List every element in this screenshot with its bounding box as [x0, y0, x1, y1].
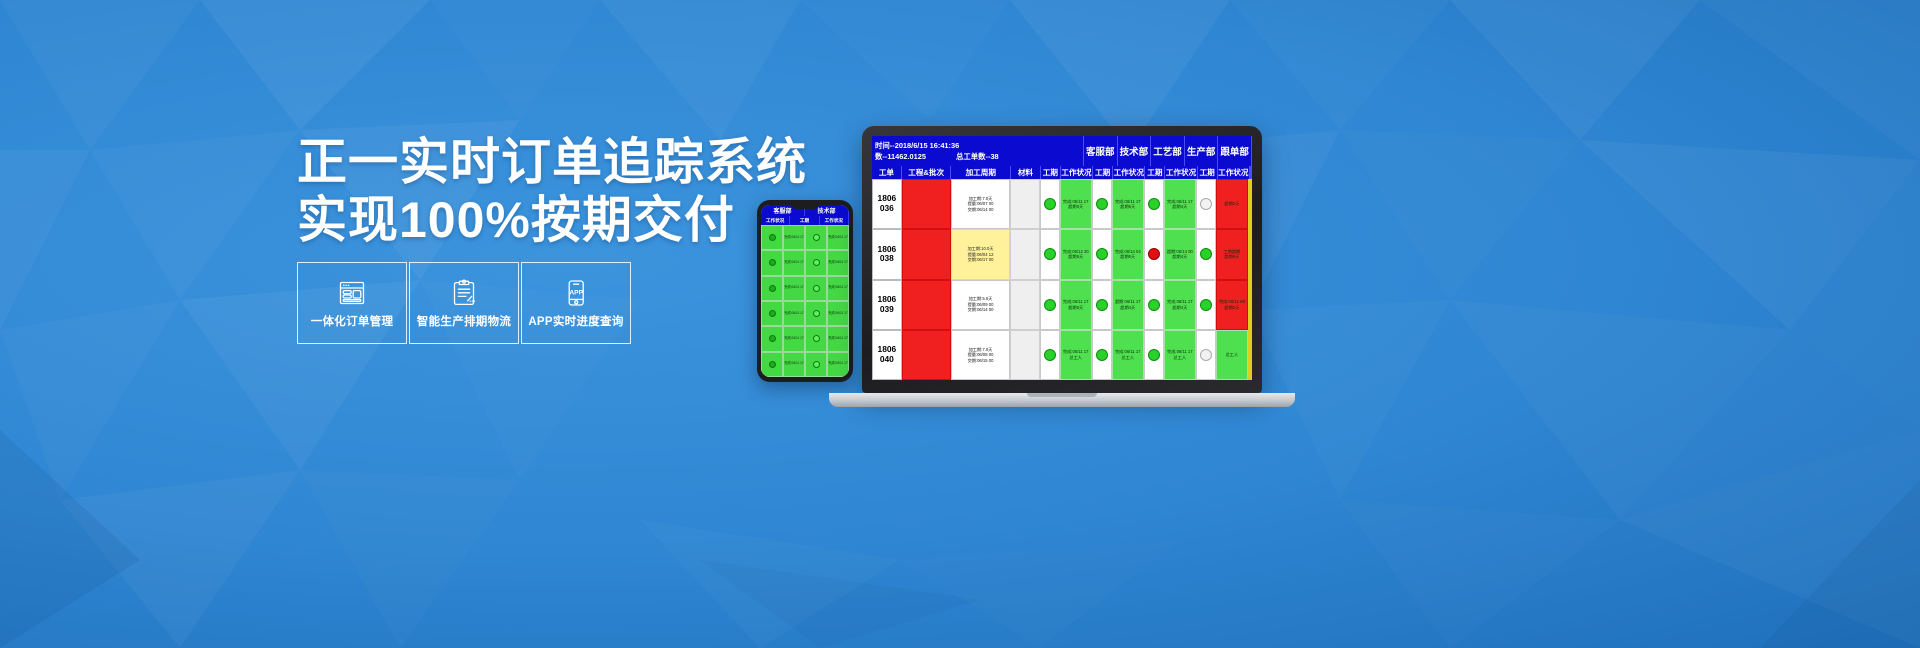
cell-gendan-status[interactable] [1250, 330, 1252, 380]
col-header-project: 工程&批次 [902, 166, 952, 179]
phone-subheader: 工作状况 工期 工作状况 [761, 216, 849, 225]
phone-screen: 客服部 技术部 工作状况 工期 工作状况 完成:06/11 17 [761, 205, 849, 377]
col-header-gongyi-term: 工期 [1145, 166, 1165, 179]
status-dot-icon [1200, 248, 1212, 260]
laptop-lid: 时间--2018/6/15 16:41:36 数--11462.0125总工单数… [862, 126, 1262, 393]
cell-gongyi-status[interactable]: 完成:06/11 17 超期4天 [1164, 179, 1196, 229]
status-dot-icon [769, 335, 776, 342]
col-header-gendan-status: 工作状况 [1251, 166, 1252, 179]
feature-label-app-tracking: APP实时进度查询 [528, 313, 623, 329]
phone-cell[interactable]: 完成:06/11 17 [827, 326, 849, 351]
phone-cell[interactable]: 完成:06/11 17 [783, 352, 805, 377]
cell-kefu-status[interactable]: 完成:06/11 17 超期8天 [1060, 280, 1092, 330]
laptop-screen: 时间--2018/6/15 16:41:36 数--11462.0125总工单数… [872, 136, 1252, 380]
phone-column-status-1 [761, 225, 783, 377]
cell-gendan-status[interactable] [1250, 229, 1252, 279]
cell-kefu-status[interactable]: 完成:06/12 20 超期8天 [1060, 229, 1092, 279]
cell-order[interactable]: 1806 039 [872, 280, 902, 330]
feature-label-order-management: 一体化订单管理 [311, 313, 394, 329]
cell-jishu-status[interactable]: 超期:06/11 17 超期4天 [1112, 280, 1144, 330]
dashboard-column-header: 工单 工程&批次 加工周期 材料 工期 工作状况 工期 工作状况 工期 工作状况… [872, 166, 1252, 179]
cycle-line-3: 交期:06/15 00 [968, 358, 994, 363]
laptop-mockup: 时间--2018/6/15 16:41:36 数--11462.0125总工单数… [862, 126, 1295, 407]
dept-header-kefu: 客服部 [1084, 136, 1118, 166]
status-dot-icon [769, 285, 776, 292]
cycle-line-3: 交期:06/14 00 [968, 207, 994, 212]
table-row[interactable]: 1806 036 加工期:7.0天 提量:06/07 00 交期:06/14 0… [872, 179, 1252, 229]
status-dot-icon [1200, 299, 1212, 311]
status-dot-icon [1148, 299, 1160, 311]
cell-shengchan-status[interactable]: 超期2天 [1216, 179, 1248, 229]
cell-kefu-status[interactable]: 完成:06/11 17 总工人 [1060, 330, 1092, 380]
status-dot-icon [813, 259, 820, 266]
cell-cycle[interactable]: 加工期:10.0天 提量:06/04 12 交期:06/17 00 [951, 229, 1010, 279]
cycle-line-3: 交期:06/17 00 [968, 257, 994, 262]
term-text: 超期4天 [1172, 204, 1187, 209]
cell-shengchan-indicator[interactable] [1196, 280, 1216, 330]
status-dot-icon [1148, 349, 1160, 361]
status-dot-icon [1096, 248, 1108, 260]
phone-cell[interactable]: 完成:06/11 17 [827, 352, 849, 377]
status-dot-icon [1148, 248, 1160, 260]
status-dot-icon [1044, 299, 1056, 311]
mobile-app-icon: APP [561, 279, 591, 307]
cycle-line-3: 交期:06/14 00 [968, 307, 994, 312]
cell-jishu-indicator[interactable] [1092, 179, 1112, 229]
status-dot-icon [813, 285, 820, 292]
phone-cell[interactable]: 完成:06/11 17 [783, 225, 805, 250]
feature-item-production-schedule[interactable]: 智能生产排期物流 [409, 262, 519, 344]
dept-header-gongyi: 工艺部 [1151, 136, 1185, 166]
term-text: 超期6天 [1224, 254, 1239, 259]
status-dot-icon [813, 310, 820, 317]
cell-kefu-indicator[interactable] [1040, 330, 1060, 380]
dashboard-header-info: 时间--2018/6/15 16:41:36 数--11462.0125总工单数… [872, 136, 1084, 166]
term-text: 超期8天 [1068, 305, 1083, 310]
status-dot-icon [769, 234, 776, 241]
phone-cell[interactable] [805, 301, 827, 326]
cell-jishu-indicator[interactable] [1092, 229, 1112, 279]
col-header-gongyi-status: 工作状况 [1165, 166, 1197, 179]
term-text: 超期8天 [1068, 254, 1083, 259]
cell-material[interactable] [1010, 179, 1040, 229]
col-header-jishu-term: 工期 [1093, 166, 1113, 179]
col-header-shengchan-term: 工期 [1198, 166, 1218, 179]
term-text: 超期6天 [1120, 254, 1135, 259]
status-dot-icon [769, 310, 776, 317]
phone-cell[interactable] [805, 352, 827, 377]
status-dot-icon [1200, 198, 1212, 210]
cell-shengchan-status[interactable]: 完成:06/12 09 超期2天 [1216, 280, 1248, 330]
dashboard-window-icon [337, 279, 367, 307]
status-dot-icon [813, 335, 820, 342]
cell-jishu-indicator[interactable] [1092, 330, 1112, 380]
status-dot-icon [1200, 349, 1212, 361]
col-header-material: 材料 [1011, 166, 1041, 179]
status-dot-icon [769, 259, 776, 266]
term-text: 超期6天 [1120, 204, 1135, 209]
phone-cell[interactable] [761, 276, 783, 301]
phone-cell[interactable]: 完成:06/11 17 [827, 301, 849, 326]
col-header-order: 工单 [872, 166, 902, 179]
term-text: 超期2天 [1224, 201, 1239, 206]
phone-cell[interactable] [805, 326, 827, 351]
dashboard-counts: 数--11462.0125总工单数--38 [875, 151, 1080, 162]
feature-item-app-tracking[interactable]: APP APP实时进度查询 [521, 262, 631, 344]
feature-list: 一体化订单管理 智能生产排期物流 [297, 262, 631, 344]
cell-shengchan-status[interactable]: 工期超期 超期6天 [1216, 229, 1248, 279]
term-text: 超期4天 [1172, 254, 1187, 259]
cell-gongyi-indicator[interactable] [1144, 179, 1164, 229]
phone-column-term-2: 完成:06/11 17 完成:06/11 17 完成:06/11 17 完成:0… [827, 225, 849, 377]
col-header-jishu-status: 工作状况 [1113, 166, 1145, 179]
table-row[interactable]: 1806 038 加工期:10.0天 提量:06/04 12 交期:06/17 … [872, 229, 1252, 279]
dept-header-gendan: 跟单部 [1218, 136, 1252, 166]
cell-gongyi-status[interactable]: 完成:06/11 17 总工人 [1164, 330, 1196, 380]
promo-banner: 正一实时订单追踪系统 实现100%按期交付 一体化订单管理 [0, 0, 1920, 648]
cell-gendan-status[interactable] [1250, 280, 1252, 330]
phone-cell[interactable]: 完成:06/11 17 [827, 276, 849, 301]
status-dot-icon [813, 234, 820, 241]
laptop-base [829, 393, 1295, 407]
phone-notch [791, 204, 819, 209]
cell-order[interactable]: 1806 040 [872, 330, 902, 380]
term-text: 超期4天 [1172, 305, 1187, 310]
phone-cell[interactable]: 完成:06/11 17 [827, 250, 849, 275]
cell-jishu-indicator[interactable] [1092, 280, 1112, 330]
cell-kefu-indicator[interactable] [1040, 280, 1060, 330]
phone-cell[interactable] [761, 326, 783, 351]
phone-cell[interactable]: 完成:06/11 17 [783, 326, 805, 351]
dept-header-jishu: 技术部 [1118, 136, 1152, 166]
cell-kefu-status[interactable]: 完成:06/11 17 超期8天 [1060, 179, 1092, 229]
col-header-cycle: 加工周期 [951, 166, 1011, 179]
clipboard-checklist-icon [449, 279, 479, 307]
cell-project[interactable] [902, 229, 951, 279]
cell-cycle[interactable]: 加工期:7.0天 提量:06/08 00 交期:06/15 00 [951, 330, 1010, 380]
cell-jishu-status[interactable]: 完成:06/11 17 超期6天 [1112, 179, 1144, 229]
status-dot-icon [813, 361, 820, 368]
smartphone-mockup: 客服部 技术部 工作状况 工期 工作状况 完成:06/11 17 [757, 200, 853, 382]
cell-gongyi-indicator[interactable] [1144, 280, 1164, 330]
phone-cell[interactable] [805, 250, 827, 275]
cell-order[interactable]: 1806 036 [872, 179, 902, 229]
status-dot-icon [1096, 299, 1108, 311]
col-header-kefu-term: 工期 [1041, 166, 1061, 179]
status-dot-icon [1096, 349, 1108, 361]
term-text: 总工人 [1121, 355, 1134, 360]
cell-project[interactable] [902, 280, 951, 330]
cell-material[interactable] [1010, 330, 1040, 380]
cell-gongyi-indicator[interactable] [1144, 330, 1164, 380]
phone-cell[interactable] [761, 352, 783, 377]
term-text: 超期2天 [1224, 305, 1239, 310]
phone-cell[interactable] [805, 276, 827, 301]
cell-kefu-indicator[interactable] [1040, 229, 1060, 279]
svg-text:APP: APP [569, 289, 583, 296]
cell-material[interactable] [1010, 280, 1040, 330]
col-header-shengchan-status: 工作状况 [1218, 166, 1250, 179]
status-dot-icon [1096, 198, 1108, 210]
phone-cell[interactable]: 完成:06/11 17 [827, 225, 849, 250]
term-text: 总工人 [1069, 355, 1082, 360]
cell-shengchan-indicator[interactable] [1196, 229, 1216, 279]
dashboard-total-orders: 总工单数--38 [956, 152, 999, 161]
phone-cell[interactable]: 完成:06/11 17 [783, 250, 805, 275]
phone-cell[interactable] [805, 225, 827, 250]
term-text: 超期4天 [1120, 305, 1135, 310]
cell-gendan-status[interactable] [1250, 179, 1252, 229]
status-dot-icon [1044, 248, 1056, 260]
cell-cycle[interactable]: 加工期:7.0天 提量:06/07 00 交期:06/14 00 [951, 179, 1010, 229]
phone-cell[interactable]: 完成:06/11 17 [783, 301, 805, 326]
cell-gongyi-status[interactable]: 完成:06/11 17 超期4天 [1164, 280, 1196, 330]
cell-shengchan-indicator[interactable] [1196, 179, 1216, 229]
phone-cell[interactable]: 完成:06/11 17 [783, 276, 805, 301]
table-row[interactable]: 1806 039 加工期:5.0天 提量:06/09 00 交期:06/14 0… [872, 280, 1252, 330]
dashboard-header: 时间--2018/6/15 16:41:36 数--11462.0125总工单数… [872, 136, 1252, 166]
phone-cell[interactable] [761, 225, 783, 250]
cell-project[interactable] [902, 330, 951, 380]
cell-shengchan-status[interactable]: 总工人 [1216, 330, 1248, 380]
cell-gongyi-indicator[interactable] [1144, 229, 1164, 279]
status-dot-icon [1044, 349, 1056, 361]
cell-project[interactable] [902, 179, 951, 229]
dashboard-count-value: 数--11462.0125 [875, 152, 926, 161]
phone-sub-0: 工作状况 [761, 216, 790, 225]
cell-jishu-status[interactable]: 完成:06/14 04 超期6天 [1112, 229, 1144, 279]
cell-material[interactable] [1010, 229, 1040, 279]
cell-cycle[interactable]: 加工期:5.0天 提量:06/09 00 交期:06/14 00 [951, 280, 1010, 330]
cell-gongyi-status[interactable]: 超期:06/14 00 超期4天 [1164, 229, 1196, 279]
dashboard-time: 时间--2018/6/15 16:41:36 [875, 140, 1080, 151]
col-header-kefu-status: 工作状况 [1061, 166, 1093, 179]
phone-cell[interactable] [761, 250, 783, 275]
phone-sub-1: 工期 [790, 216, 819, 225]
table-row[interactable]: 1806 040 加工期:7.0天 提量:06/08 00 交期:06/15 0… [872, 330, 1252, 380]
dashboard-table-body: 1806 036 加工期:7.0天 提量:06/07 00 交期:06/14 0… [872, 179, 1252, 380]
dept-header-shengchan: 生产部 [1185, 136, 1219, 166]
term-text: 总工人 [1174, 355, 1187, 360]
headline-line-1: 正一实时订单追踪系统 [297, 134, 807, 190]
phone-column-term: 完成:06/11 17 完成:06/11 17 完成:06/11 17 完成:0… [783, 225, 805, 377]
phone-table-body: 完成:06/11 17 完成:06/11 17 完成:06/11 17 完成:0… [761, 225, 849, 377]
status-dot-icon [1148, 198, 1160, 210]
phone-sub-2: 工作状况 [820, 216, 849, 225]
phone-cell[interactable] [761, 301, 783, 326]
term-text: 总工人 [1226, 352, 1239, 357]
cell-order[interactable]: 1806 038 [872, 229, 902, 279]
feature-label-production-schedule: 智能生产排期物流 [417, 313, 511, 329]
cell-kefu-indicator[interactable] [1040, 179, 1060, 229]
cell-jishu-status[interactable]: 完成:06/11 17 总工人 [1112, 330, 1144, 380]
feature-item-order-management[interactable]: 一体化订单管理 [297, 262, 407, 344]
term-text: 超期8天 [1068, 204, 1083, 209]
status-dot-icon [1044, 198, 1056, 210]
phone-column-status-2 [805, 225, 827, 377]
status-dot-icon [769, 361, 776, 368]
dashboard-department-header: 客服部 技术部 工艺部 生产部 跟单部 [1084, 136, 1252, 166]
cell-shengchan-indicator[interactable] [1196, 330, 1216, 380]
